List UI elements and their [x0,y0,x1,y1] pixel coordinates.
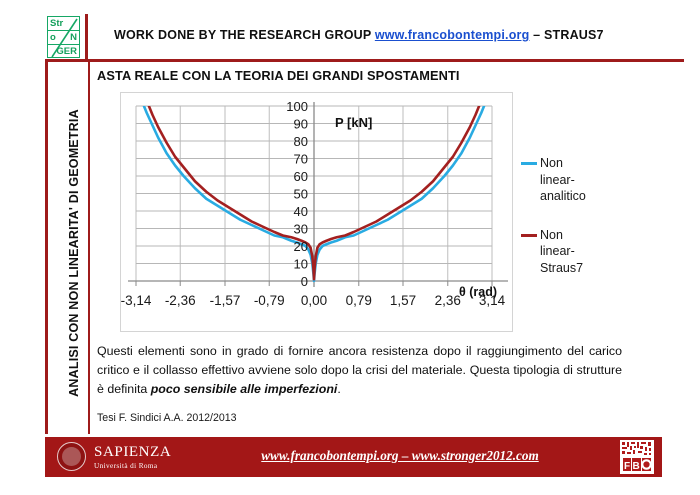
logo-row-1: Str [48,17,79,31]
logo-row-2: o N [48,31,79,45]
fbo-letter-f: F [624,461,630,472]
sidebar-outer-rule [45,59,48,434]
legend-entry-straus7[interactable]: Non linear- Straus7 [521,227,631,277]
y-tick-label: 30 [294,222,308,237]
logo-row-2-right: N [70,31,77,45]
y-tick-label: 100 [286,99,308,114]
page-title: ASTA REALE CON LA TEORIA DEI GRANDI SPOS… [97,68,460,83]
x-tick-label: 0,00 [301,293,327,308]
x-tick-label: -0,79 [254,293,285,308]
header: Str o N GER WORK DONE BY THE RESEARCH GR… [42,14,684,62]
fbo-letter-b: B [633,461,640,472]
header-vertical-divider [85,14,88,62]
y-tick-label: 80 [294,134,308,149]
y-tick-label: 60 [294,169,308,184]
y-tick-label: 10 [294,257,308,272]
y-tick-label: 40 [294,204,308,219]
chart-x-axis-title: θ (rad) [459,285,497,299]
y-tick-label: 0 [301,274,308,289]
header-link[interactable]: www.francobontempi.org [375,28,530,42]
chart-gridlines [128,102,508,287]
sidebar-vertical-label: ANALISI CON NON LINEARITA' DI GEOMETRIA [67,73,81,433]
fbo-logo-svg: F B [620,440,654,474]
legend-label-straus7: Non linear- Straus7 [540,227,583,277]
chart-y-tick-labels: 0102030405060708090100 [286,99,308,289]
header-horizontal-rule [45,59,684,62]
x-tick-label: -1,57 [210,293,241,308]
x-tick-label: -3,14 [121,293,152,308]
chart-legend: Non linear- analitico Non linear- Straus… [521,155,631,298]
sapienza-wordmark: SAPIENZA Università di Roma [94,445,171,471]
paragraph-text-part2: . [337,382,340,396]
sapienza-seal-icon [57,442,86,471]
header-title-suffix: – STRAUS7 [529,28,603,42]
header-title-prefix: WORK DONE BY THE RESEARCH GROUP [114,28,375,42]
y-tick-label: 20 [294,239,308,254]
chart-x-tick-labels: -3,14-2,36-1,57-0,790,000,791,572,363,14 [121,293,506,308]
legend-swatch-analitico [521,162,537,165]
x-tick-label: 0,79 [346,293,372,308]
logo-row-3: GER [48,45,79,58]
body-paragraph: Questi elementi sono in grado di fornire… [97,342,622,399]
logo-row-1-left: Str [50,17,63,31]
y-tick-label: 70 [294,152,308,167]
x-tick-label: 1,57 [390,293,416,308]
footer-link[interactable]: www.francobontempi.org – www.stronger201… [205,448,595,464]
thesis-credit: Tesi F. Sindici A.A. 2012/2013 [97,412,237,424]
paragraph-emphasis: poco sensibile alle imperfezioni [151,382,338,396]
sapienza-subtitle: Università di Roma [94,461,171,471]
sidebar-inner-rule [88,62,90,434]
legend-entry-analitico[interactable]: Non linear- analitico [521,155,631,205]
y-tick-label: 90 [294,117,308,132]
x-tick-label: -2,36 [165,293,196,308]
stronger-logo: Str o N GER [47,16,80,58]
sapienza-name: SAPIENZA [94,445,171,460]
logo-row-3-right: GER [56,45,77,58]
footer: SAPIENZA Università di Roma www.francobo… [45,437,662,477]
sapienza-seal-inner [62,447,81,466]
chart-container: -3,14-2,36-1,57-0,790,000,791,572,363,14… [120,92,513,332]
legend-swatch-straus7 [521,234,537,237]
y-tick-label: 50 [294,187,308,202]
chart-svg: -3,14-2,36-1,57-0,790,000,791,572,363,14… [121,93,512,331]
legend-label-analitico: Non linear- analitico [540,155,586,205]
slide-root: Str o N GER WORK DONE BY THE RESEARCH GR… [0,0,700,495]
chart-y-axis-title: P [kN] [335,115,372,130]
x-tick-label: 2,36 [435,293,461,308]
header-title: WORK DONE BY THE RESEARCH GROUP www.fran… [114,28,604,42]
logo-row-2-left: o [50,31,56,45]
fbo-logo-icon: F B [620,440,654,474]
